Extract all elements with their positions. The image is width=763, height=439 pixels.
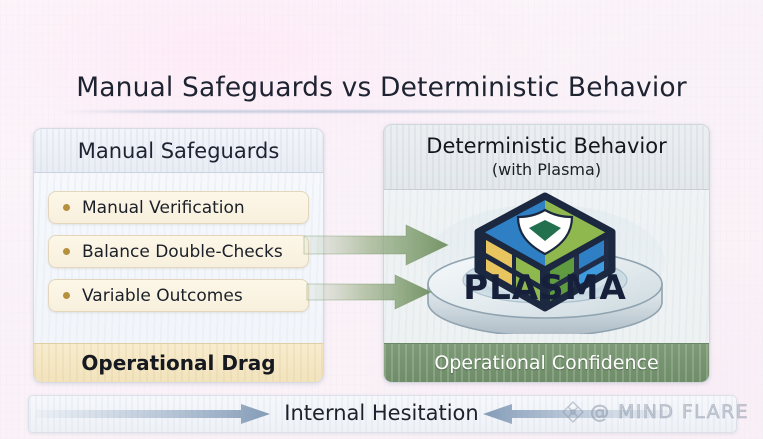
diamond-compass-icon bbox=[561, 400, 585, 424]
watermark-text: @ MIND FLARE bbox=[590, 401, 749, 423]
right-panel-header-label: Deterministic Behavior bbox=[426, 135, 666, 157]
flow-arrow-upper bbox=[302, 222, 452, 268]
manual-safeguards-list: Manual Verification Balance Double-Check… bbox=[34, 172, 323, 323]
bullet-dot-icon bbox=[63, 204, 70, 211]
slide-canvas: Manual Safeguards vs Deterministic Behav… bbox=[0, 0, 763, 439]
list-item[interactable]: Manual Verification bbox=[48, 191, 309, 224]
bullet-dot-icon bbox=[63, 292, 70, 299]
left-panel-header-label: Manual Safeguards bbox=[78, 139, 280, 163]
operational-drag-banner: Operational Drag bbox=[34, 343, 323, 382]
right-panel-subheader-label: (with Plasma) bbox=[492, 160, 601, 179]
manual-safeguards-panel: Manual Safeguards Manual Verification Ba… bbox=[33, 128, 324, 383]
flow-arrow-lower bbox=[305, 272, 435, 312]
operational-drag-label: Operational Drag bbox=[81, 351, 275, 375]
list-item[interactable]: Balance Double-Checks bbox=[48, 235, 309, 268]
hesitation-arrow-left-shape bbox=[36, 404, 270, 424]
left-panel-header: Manual Safeguards bbox=[34, 129, 323, 173]
flow-arrow-lower-shape bbox=[307, 275, 431, 309]
list-item[interactable]: Variable Outcomes bbox=[48, 279, 309, 312]
list-item-label: Manual Verification bbox=[82, 198, 245, 218]
operational-confidence-banner: Operational Confidence bbox=[384, 343, 709, 382]
bullet-dot-icon bbox=[63, 248, 70, 255]
hesitation-arrow-left bbox=[36, 403, 271, 425]
list-item-label: Balance Double-Checks bbox=[82, 242, 283, 262]
title-underline bbox=[62, 110, 662, 113]
right-panel-header: Deterministic Behavior (with Plasma) bbox=[384, 125, 709, 190]
plasma-wordmark: PLASMA bbox=[463, 268, 627, 308]
operational-confidence-label: Operational Confidence bbox=[434, 352, 658, 374]
watermark: @ MIND FLARE bbox=[561, 400, 749, 424]
page-title: Manual Safeguards vs Deterministic Behav… bbox=[0, 72, 763, 103]
list-item-label: Variable Outcomes bbox=[82, 286, 243, 306]
flow-arrow-upper-shape bbox=[304, 225, 448, 265]
